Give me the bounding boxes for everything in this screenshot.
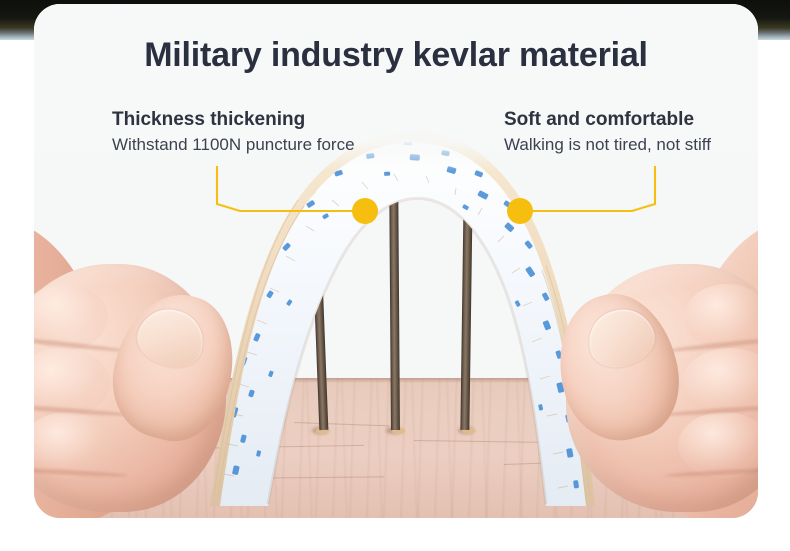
left-fist-gripping-insole — [34, 198, 288, 518]
annotation-left-heading: Thickness thickening — [112, 109, 355, 131]
page-background: Military industry kevlar material Thickn… — [0, 0, 790, 551]
product-image-card: Military industry kevlar material Thickn… — [34, 4, 758, 518]
annotation-right-heading: Soft and comfortable — [504, 109, 711, 131]
annotation-right: Soft and comfortable Walking is not tire… — [504, 109, 711, 155]
callout-dot-left — [352, 198, 378, 224]
right-fist-gripping-insole — [504, 198, 758, 518]
annotation-left-subtext: Withstand 1100N puncture force — [112, 135, 355, 155]
steel-nail-center — [389, 158, 400, 430]
annotation-right-subtext: Walking is not tired, not stiff — [504, 135, 711, 155]
callout-dot-right — [507, 198, 533, 224]
page-title: Military industry kevlar material — [34, 36, 758, 75]
annotation-left: Thickness thickening Withstand 1100N pun… — [112, 109, 355, 155]
